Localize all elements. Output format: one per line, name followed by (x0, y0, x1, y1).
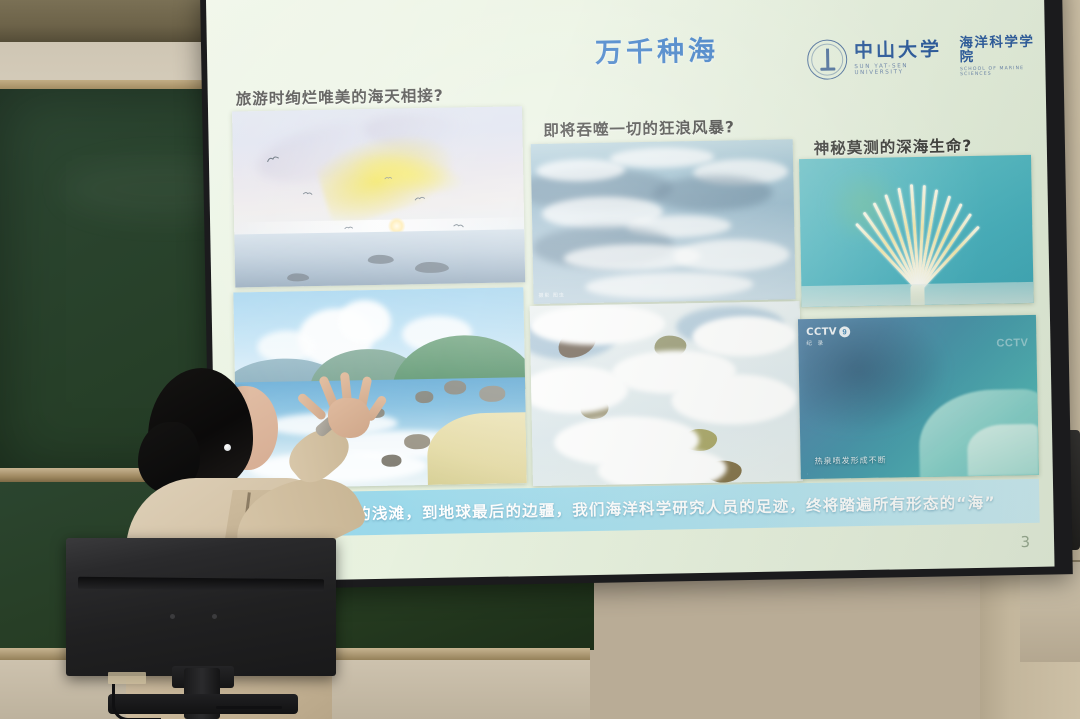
cctv-logo: CCTV 9 纪 录 (806, 326, 850, 347)
school-name-en: SCHOOL OF MARINE SCIENCES (960, 66, 1048, 78)
caption-tourism-seascape: 旅游时绚烂唯美的海天相接? (236, 84, 444, 110)
presenter-hand (320, 374, 378, 436)
classroom-scene: 万千种海 中山大学 SUN YAT-SEN UNIVERSITY 海洋科学学院 … (0, 0, 1080, 719)
panel-crashing-surf (530, 301, 803, 486)
monitor-screw (212, 614, 217, 619)
caption-deep-sea-life: 神秘莫测的深海生命? (814, 134, 973, 159)
monitor-asset-label (108, 672, 146, 684)
earring-icon (224, 444, 231, 451)
university-name-cn: 中山大学 (854, 40, 949, 61)
university-logo: 中山大学 SUN YAT-SEN UNIVERSITY 海洋科学学院 SCHOO… (807, 33, 1048, 83)
seagull-icon (454, 216, 466, 225)
panel-storm-waves: 摄影 图虫 (531, 139, 796, 304)
university-name-en: SUN YAT-SEN UNIVERSITY (854, 62, 949, 76)
slide-title: 万千种海 (537, 28, 778, 71)
seagull-icon (303, 183, 314, 191)
monitor-screw (170, 614, 175, 619)
seagull-icon (344, 218, 353, 225)
monitor-vent (78, 577, 324, 592)
monitor-cable (216, 706, 282, 709)
monitor-cable (112, 684, 161, 719)
seagull-icon (384, 168, 392, 175)
right-wall-panel (1020, 560, 1080, 662)
cctv-ghost-watermark: CCTV (996, 337, 1028, 350)
lecture-desk-monitor[interactable] (66, 538, 336, 719)
documentary-subtitle: 热泉喷发形成不断 (814, 455, 886, 467)
school-name-cn: 海洋科学学院 (959, 36, 1047, 65)
panel-cctv-hydrothermal: CCTV 9 纪 录 CCTV 热泉喷发形成不断 · (798, 315, 1039, 479)
banner-text: “从家门口的浅滩，到地球最后的边疆，我们海洋科学研究人员的足迹，终将踏遍所有形态… (277, 491, 996, 526)
slide-page-number: 3 (1020, 533, 1030, 551)
cctv-channel-label: 纪 录 (806, 339, 825, 347)
glass-sponge-icon (855, 180, 977, 292)
seagull-icon (413, 188, 425, 196)
panel-watermark: 摄影 图虫 (538, 291, 565, 298)
sun-yat-sen-seal-icon (807, 39, 848, 80)
footage-timecode: · (807, 471, 808, 476)
monitor-back-panel (66, 538, 336, 676)
seagull-icon (264, 148, 278, 158)
cctv-brand-text: CCTV (806, 326, 837, 338)
panel-deep-sea-sponge (799, 155, 1034, 307)
cctv-channel-badge: 9 (839, 326, 850, 337)
panel-sunset-seascape (232, 106, 525, 287)
caption-storm-waves: 即将吞噬一切的狂浪风暴? (543, 115, 735, 141)
